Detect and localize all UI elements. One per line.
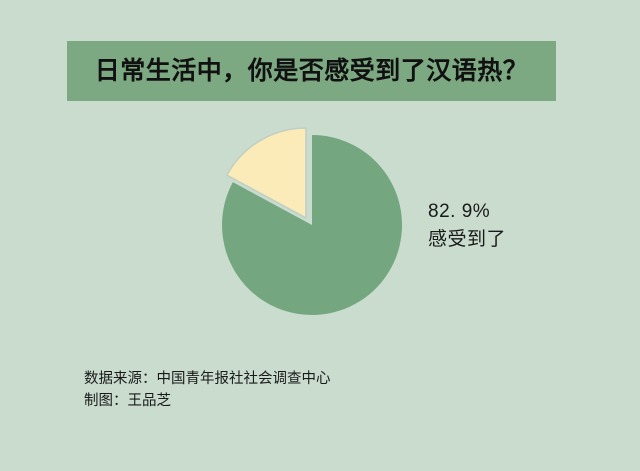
pie-callout-label: 82. 9% 感受到了 (428, 198, 506, 253)
footer-credits: 数据来源：中国青年报社社会调查中心 制图：王品芝 (84, 368, 331, 413)
title-banner: 日常生活中，你是否感受到了汉语热？ (67, 41, 556, 101)
infographic-canvas: 日常生活中，你是否感受到了汉语热？ 82. 9% 感受到了 数据来源：中国青年报… (0, 0, 640, 471)
data-source-line: 数据来源：中国青年报社社会调查中心 (84, 368, 331, 390)
chart-credit-line: 制图：王品芝 (84, 390, 331, 412)
page-title: 日常生活中，你是否感受到了汉语热？ (95, 59, 529, 84)
pie-chart (198, 118, 418, 323)
pie-chart-svg (198, 118, 418, 323)
pie-callout-value: 82. 9% (428, 198, 506, 226)
pie-callout-description: 感受到了 (428, 226, 506, 254)
